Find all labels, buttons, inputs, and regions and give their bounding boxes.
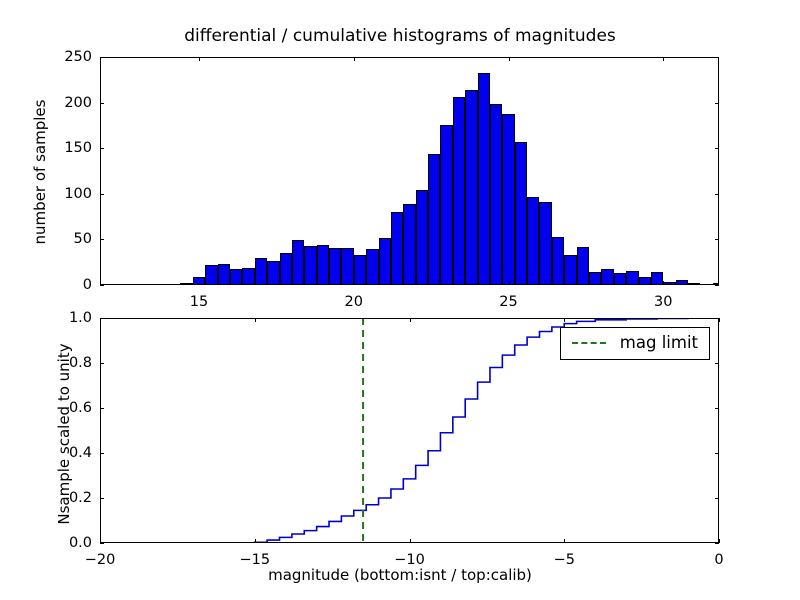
histogram-bar	[428, 154, 440, 285]
y-tick-mark	[100, 285, 104, 286]
x-tick-mark	[663, 57, 664, 61]
y-tick-mark	[100, 363, 104, 364]
y-tick-mark	[100, 57, 104, 58]
histogram-bar	[180, 283, 192, 285]
y-tick-label: 150	[48, 141, 92, 156]
x-tick-mark	[354, 57, 355, 61]
x-tick-mark	[663, 281, 664, 285]
histogram-bar	[280, 253, 292, 285]
histogram-bar	[391, 212, 403, 285]
y-tick-mark	[715, 194, 719, 195]
cumulative-histogram-axes: mag limit	[100, 318, 719, 543]
histogram-bar	[688, 283, 700, 285]
x-tick-mark	[199, 281, 200, 285]
x-tick-mark	[564, 539, 565, 543]
histogram-bar	[292, 240, 304, 285]
bottom-y-axis-label: Nsample scaled to unity	[55, 309, 73, 559]
histogram-bar	[329, 248, 341, 285]
y-tick-mark	[100, 194, 104, 195]
x-axis-label: magnitude (bottom:isnt / top:calib)	[0, 568, 800, 583]
y-tick-mark	[715, 453, 719, 454]
page-title: differential / cumulative histograms of …	[0, 28, 800, 45]
x-tick-label: −15	[239, 553, 270, 568]
histogram-bar	[242, 268, 254, 285]
histogram-bar	[366, 249, 378, 285]
y-tick-mark	[715, 543, 719, 544]
legend[interactable]: mag limit	[560, 327, 710, 360]
y-tick-mark	[100, 148, 104, 149]
histogram-bar	[255, 258, 267, 285]
histogram-bar	[416, 190, 428, 285]
x-tick-mark	[199, 57, 200, 61]
histogram-bar	[651, 272, 663, 285]
x-tick-mark	[719, 318, 720, 322]
histogram-bar	[639, 277, 651, 285]
histogram-bar	[317, 245, 329, 285]
y-tick-label: 200	[48, 95, 92, 110]
histogram-bar	[676, 280, 688, 285]
mag-limit-dash-icon	[572, 342, 606, 344]
y-tick-mark	[100, 103, 104, 104]
y-tick-label: 250	[48, 50, 92, 65]
histogram-bar	[663, 282, 675, 285]
y-tick-mark	[100, 408, 104, 409]
x-tick-mark	[255, 318, 256, 322]
y-tick-mark	[715, 103, 719, 104]
y-tick-mark	[715, 57, 719, 58]
x-tick-mark	[564, 318, 565, 322]
x-tick-mark	[509, 281, 510, 285]
y-tick-mark	[715, 498, 719, 499]
y-tick-mark	[715, 408, 719, 409]
histogram-bar	[267, 261, 279, 285]
y-tick-mark	[715, 318, 719, 319]
differential-histogram-axes	[100, 57, 719, 285]
histogram-bar	[304, 246, 316, 285]
x-tick-label: 15	[190, 295, 208, 310]
histogram-bar	[465, 90, 477, 285]
y-tick-mark	[715, 239, 719, 240]
histogram-bar	[341, 248, 353, 285]
histogram-bar	[440, 125, 452, 285]
x-tick-mark	[410, 539, 411, 543]
legend-item-label: mag limit	[620, 335, 698, 352]
histogram-bar	[379, 238, 391, 285]
y-tick-mark	[100, 239, 104, 240]
x-tick-label: −5	[554, 553, 575, 568]
x-tick-mark	[255, 539, 256, 543]
histogram-bar	[230, 269, 242, 285]
y-tick-mark	[715, 285, 719, 286]
histogram-bar	[218, 264, 230, 285]
y-tick-mark	[100, 543, 104, 544]
histogram-bar	[403, 204, 415, 285]
histogram-bar	[589, 272, 601, 285]
x-tick-label: −20	[85, 553, 116, 568]
x-tick-label: 25	[499, 295, 517, 310]
y-tick-mark	[100, 498, 104, 499]
histogram-bar	[515, 142, 527, 285]
histogram-bar	[502, 114, 514, 285]
x-tick-mark	[509, 57, 510, 61]
x-tick-label: 0	[714, 553, 723, 568]
y-tick-label: 100	[48, 187, 92, 202]
y-tick-mark	[715, 363, 719, 364]
top-y-axis-label: number of samples	[31, 77, 49, 267]
histogram-bar	[354, 255, 366, 285]
x-tick-label: 20	[345, 295, 363, 310]
histogram-bar	[478, 73, 490, 285]
histogram-bar	[552, 237, 564, 285]
x-tick-mark	[410, 318, 411, 322]
y-tick-mark	[100, 453, 104, 454]
y-tick-label: 0	[48, 278, 92, 293]
y-tick-label: 50	[48, 232, 92, 247]
y-tick-mark	[100, 318, 104, 319]
figure-canvas: differential / cumulative histograms of …	[0, 0, 800, 600]
histogram-bar	[564, 255, 576, 285]
histogram-bar	[601, 269, 613, 285]
histogram-bar	[490, 104, 502, 285]
histogram-bar	[626, 271, 638, 285]
x-tick-mark	[354, 281, 355, 285]
histogram-bar	[539, 202, 551, 285]
histogram-bar	[453, 97, 465, 285]
histogram-plot-area	[100, 57, 719, 285]
histogram-bar	[527, 197, 539, 285]
x-tick-label: 30	[654, 295, 672, 310]
x-tick-mark	[719, 539, 720, 543]
histogram-bar	[577, 247, 589, 285]
y-tick-mark	[715, 148, 719, 149]
histogram-bar	[205, 265, 217, 285]
histogram-bar	[614, 273, 626, 285]
